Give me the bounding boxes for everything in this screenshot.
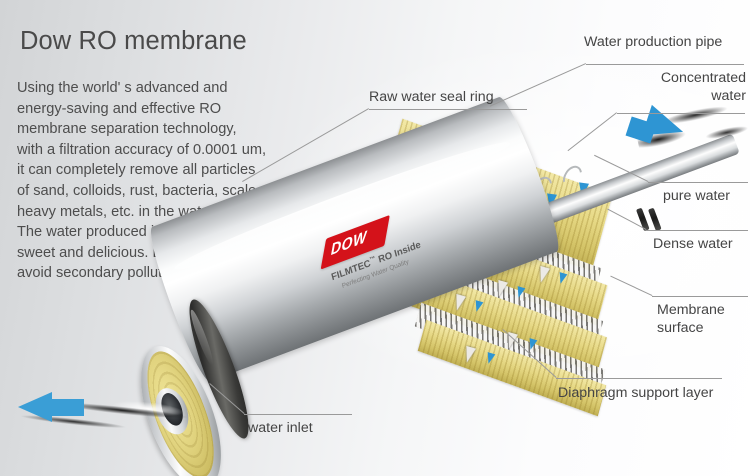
callout-pure-water: pure water [663,188,730,204]
pipe-seal-ring [648,208,662,232]
leader-line-diaphragm-support [556,378,722,379]
callout-membrane-surface: Membrane surface [657,302,725,337]
page-title: Dow RO membrane [20,27,247,56]
callout-concentrated-water: Concentrated water [598,70,746,105]
leader-line-dense-water [646,230,748,231]
callout-concentrated-water-line1: Concentrated [598,70,746,88]
leader-line-water-inlet [244,414,352,415]
callout-water-production-pipe: Water production pipe [584,34,722,50]
leader-line-production-pipe [586,64,744,65]
ro-membrane-infographic: Dow RO membrane Using the world' s advan… [0,0,750,476]
description-line: Using the world' s advanced and [17,78,309,99]
leader-line-membrane-surface [652,296,748,297]
callout-water-inlet: water inlet [248,420,313,436]
leader-line-concentrated-water [617,113,745,114]
description-line: energy-saving and effective RO [17,99,309,120]
callout-membrane-surface-line2: surface [657,320,725,338]
leader-line-pure-water [648,182,748,183]
leader-line-raw-water-seal [369,109,527,110]
leader-line-production-pipe-angled [490,63,586,107]
inlet-arrow-shaft [50,399,84,416]
callout-concentrated-water-line2: water [598,88,746,106]
callout-diaphragm-support-layer: Diaphragm support layer [558,385,713,401]
callout-membrane-surface-line1: Membrane [657,302,725,320]
callout-raw-water-seal-ring: Raw water seal ring [369,89,494,105]
inlet-flow-arrow [18,392,52,422]
callout-dense-water: Dense water [653,236,733,252]
